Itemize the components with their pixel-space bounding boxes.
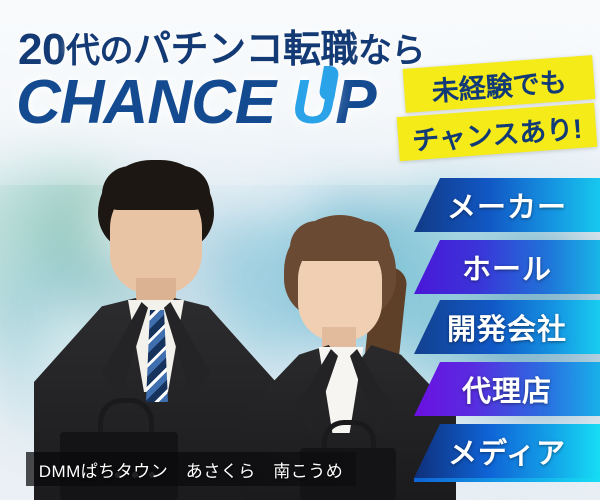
caption-credits: DMMぱちタウン あさくら 南こうめ [26, 452, 356, 486]
category-button-media[interactable]: メディア [414, 424, 600, 478]
accent-line [414, 478, 600, 482]
logo-word-chance: CHANCE [16, 68, 275, 137]
logo-letter-u: U [291, 72, 335, 134]
headline-part3: なら [358, 32, 425, 70]
logo-chance-up: CHANCE U P [16, 72, 376, 134]
category-button-agency[interactable]: 代理店 [414, 362, 600, 416]
category-button-maker[interactable]: メーカー [414, 178, 600, 232]
headline-part1: 代の [66, 32, 133, 70]
headline-number: 20 [18, 25, 66, 74]
category-button-hall[interactable]: ホール [414, 240, 600, 294]
headline-part2: パチンコ転職 [133, 29, 358, 71]
category-button-developer[interactable]: 開発会社 [414, 300, 600, 354]
advertising-banner[interactable]: 20代のパチンコ転職なら CHANCE U P 未経験でも チャンスあり! メー… [0, 0, 600, 500]
headline: 20代のパチンコ転職なら [18, 18, 425, 73]
logo-letter-p: P [335, 68, 375, 137]
